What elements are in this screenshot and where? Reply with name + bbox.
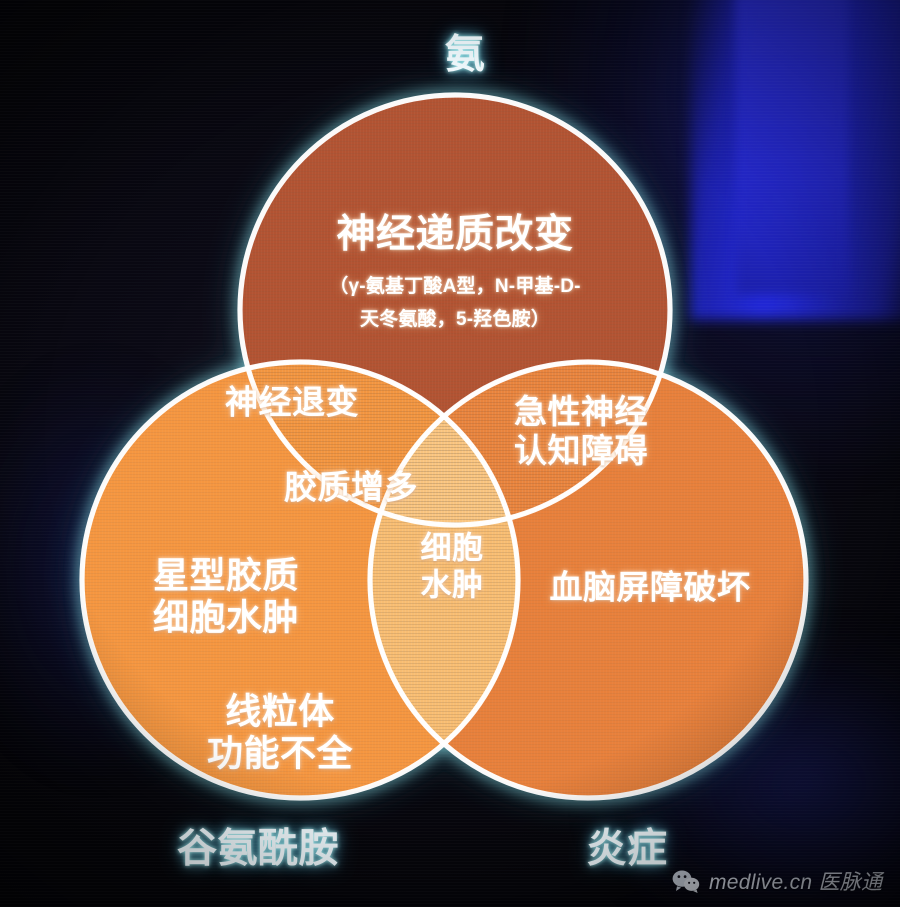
venn-diagram (0, 0, 900, 907)
screenshot-canvas: 氨 谷氨酰胺 炎症 神经递质改变 （γ-氨基丁酸A型，N-甲基-D- 天冬氨酸，… (0, 0, 900, 907)
screen-texture (82, 95, 806, 798)
